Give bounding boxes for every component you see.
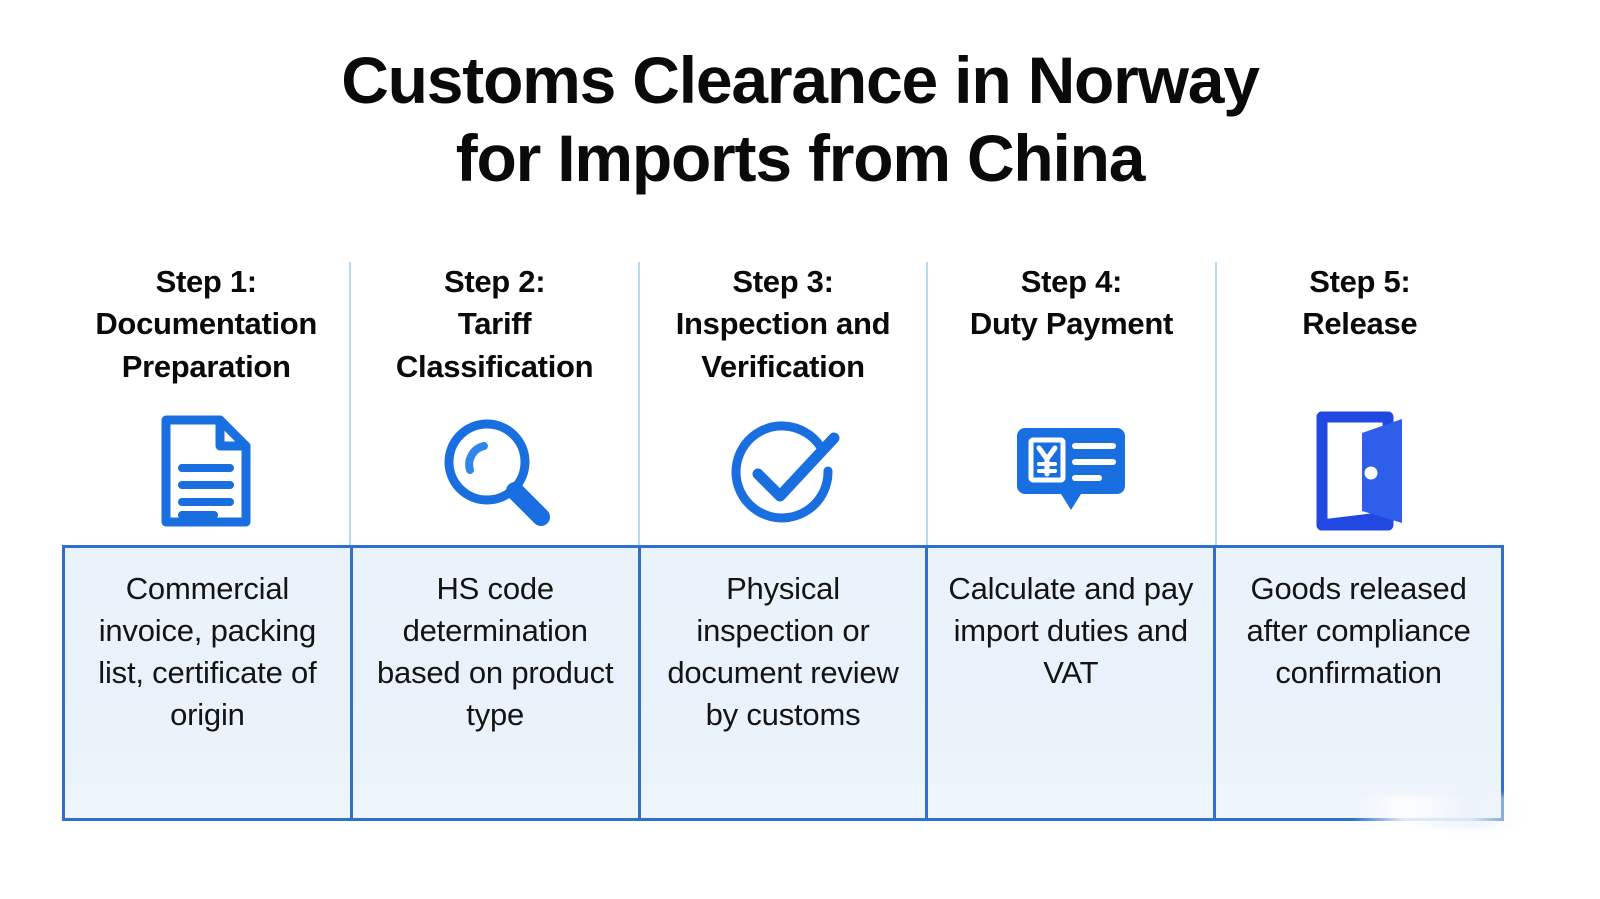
description-cell-4: Calculate and pay import duties and VAT [925,548,1213,818]
infographic-canvas: Customs Clearance in Norway for Imports … [0,0,1600,899]
page-title: Customs Clearance in Norway for Imports … [0,42,1600,198]
open-door-icon [1310,408,1410,533]
step-header-2: Step 2:TariffClassification [390,261,599,388]
step-column-1: Step 1:DocumentationPreparation [62,255,350,545]
description-cell-3: Physical inspection or document review b… [638,548,926,818]
payment-invoice-icon [1015,408,1127,533]
title-line-2: for Imports from China [0,120,1600,198]
step-column-4: Step 4:Duty Payment [927,255,1215,545]
description-cell-1: Commercial invoice, packing list, certif… [65,548,350,818]
magnifier-icon [437,408,553,533]
description-text-2: HS code determination based on product t… [367,568,624,737]
description-text-4: Calculate and pay import duties and VAT [942,568,1199,694]
steps-strip: Step 1:DocumentationPreparation Step 2:T… [62,255,1504,545]
step-column-2: Step 2:TariffClassification [350,255,638,545]
step-header-5: Step 5:Release [1296,261,1423,346]
step-column-3: Step 3:Inspection andVerification [639,255,927,545]
description-text-3: Physical inspection or document review b… [655,568,912,737]
description-text-5: Goods released after compliance confirma… [1230,568,1487,694]
description-text-1: Commercial invoice, packing list, certif… [79,568,336,737]
step-column-5: Step 5:Release [1216,255,1504,545]
step-header-3: Step 3:Inspection andVerification [670,261,897,388]
step-header-1: Step 1:DocumentationPreparation [89,261,323,388]
description-cell-2: HS code determination based on product t… [350,548,638,818]
title-line-1: Customs Clearance in Norway [0,42,1600,120]
descriptions-table: Commercial invoice, packing list, certif… [62,545,1504,821]
description-cell-5: Goods released after compliance confirma… [1213,548,1501,818]
document-icon [158,408,254,533]
check-circle-icon [724,408,842,533]
step-header-4: Step 4:Duty Payment [964,261,1179,346]
